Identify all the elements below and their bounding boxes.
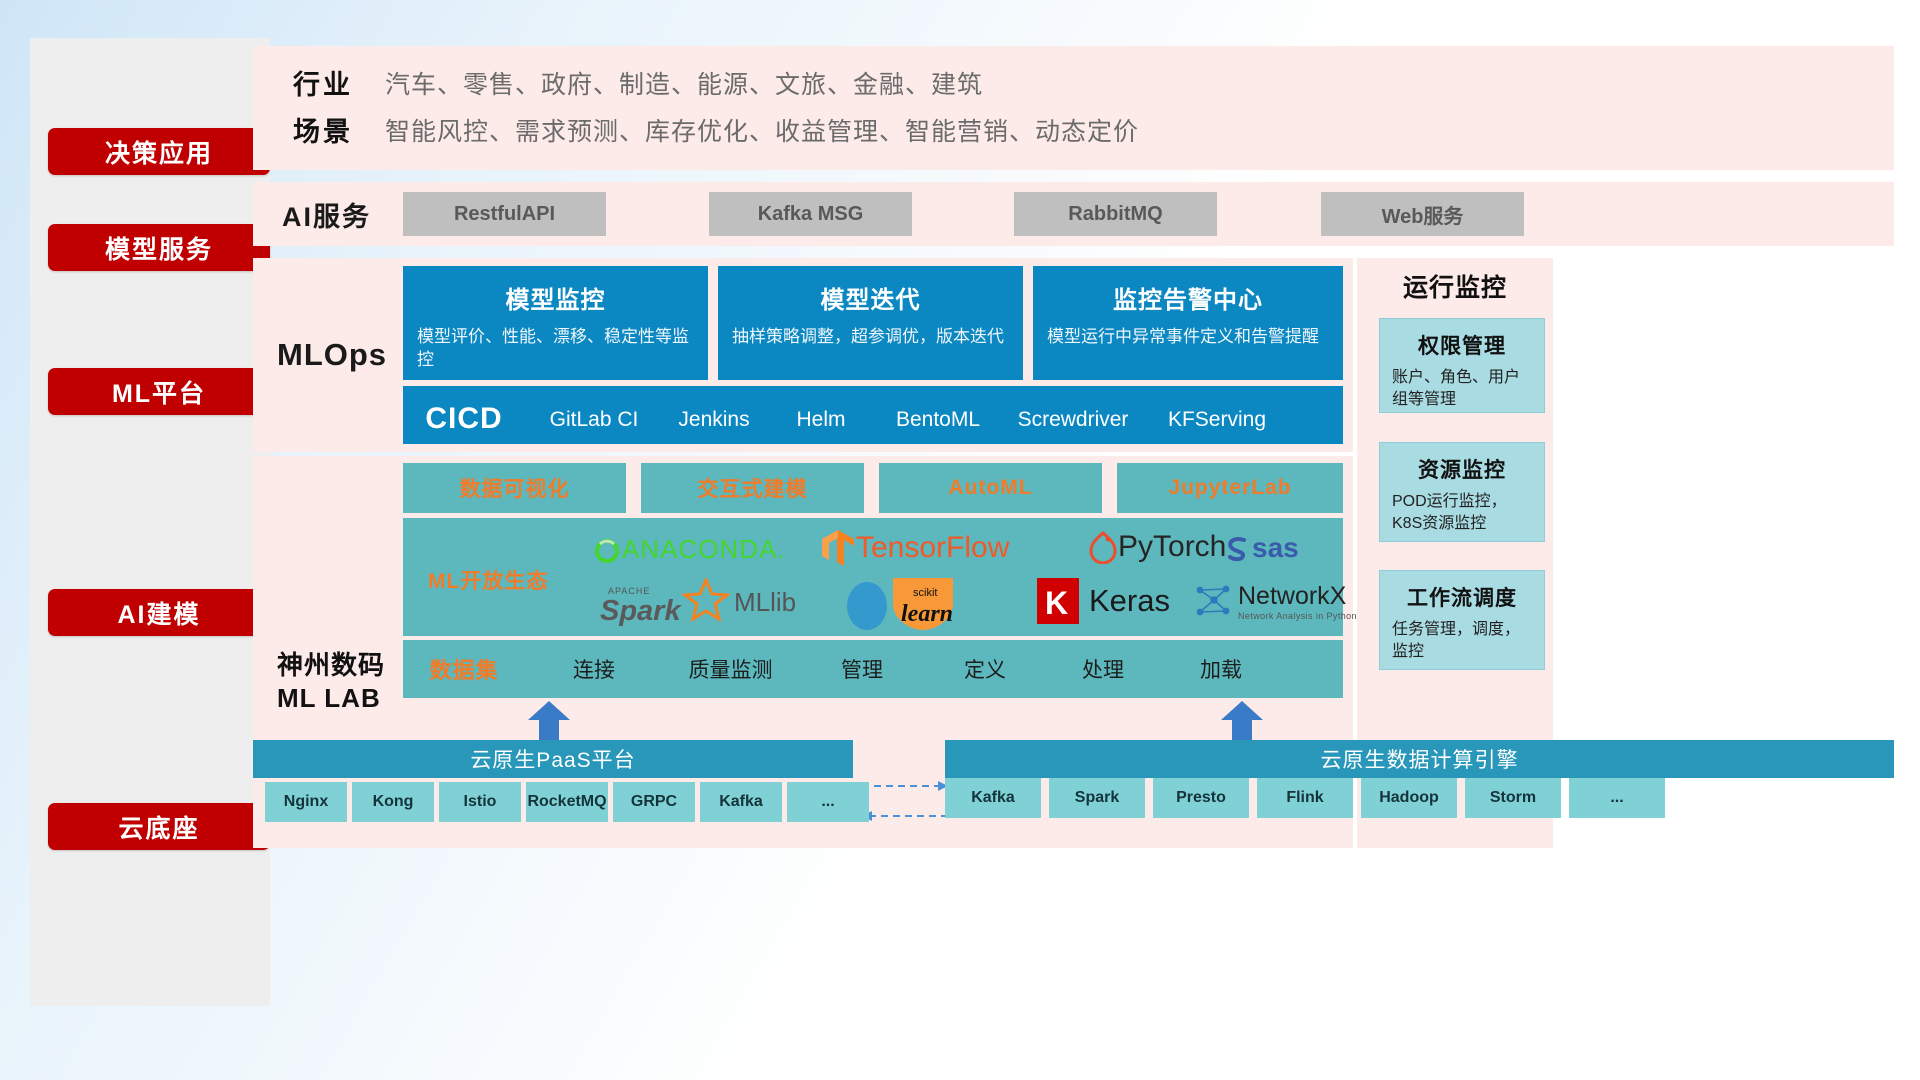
pytorch-icon [1088,530,1118,564]
lab-tab-automl[interactable]: AutoML [879,463,1102,513]
arrow-up-engine-icon [1218,700,1266,740]
service-chip-restfulapi[interactable]: RestfulAPI [403,192,606,236]
lab-tab-label: JupyterLab [1168,476,1291,500]
cloud-chip-rocketmq[interactable]: RocketMQ [526,782,608,822]
cloud-engine-title: 云原生数据计算引擎 [1321,744,1519,774]
mlops-card-alert-center[interactable]: 监控告警中心 模型运行中异常事件定义和告警提醒 [1033,266,1343,380]
cloud-chip-grpc[interactable]: GRPC [613,782,695,822]
scikit-learn-icon: scikit learn [845,576,970,632]
cloud-chip-storm[interactable]: Storm [1465,778,1561,818]
cloud-chip-label: Kafka [971,789,1015,807]
cloud-engine-bar[interactable]: 云原生数据计算引擎 [945,740,1894,778]
spark-mllib-logo: APACHE Spark MLlib [600,578,796,626]
rail-item-ai-modeling[interactable]: AI建模 [48,589,270,636]
cloud-chip-istio[interactable]: Istio [439,782,521,822]
anaconda-logo: ANACONDA . [592,534,785,565]
cloud-chip-label: Kong [373,793,414,811]
rail-item-model-service[interactable]: 模型服务 [48,224,270,271]
svg-text:scikit: scikit [913,587,937,599]
cloud-chip-label: Storm [1490,789,1536,807]
right-card-desc: 账户、角色、用户组等管理 [1392,367,1532,411]
rail-item-label: 决策应用 [105,134,213,170]
cicd-item-helm[interactable]: Helm [765,386,877,432]
anaconda-label: ANACONDA [622,534,777,565]
cloud-chip-kong[interactable]: Kong [352,782,434,822]
mlops-card-title: 监控告警中心 [1047,280,1329,315]
keras-icon: K [1035,576,1081,626]
cloud-paas-title: 云原生PaaS平台 [470,744,635,774]
keras-label: Keras [1089,583,1170,619]
cloud-chip-label: Istio [464,793,497,811]
service-chip-label: Kafka MSG [758,203,864,226]
tensorflow-icon [820,528,856,568]
cloud-chip-label: Hadoop [1379,789,1439,807]
scenario-value: 智能风控、需求预测、库存优化、收益管理、智能营销、动态定价 [385,112,1139,148]
scenario-row: 场景 智能风控、需求预测、库存优化、收益管理、智能营销、动态定价 [293,110,1139,149]
industry-value: 汽车、零售、政府、制造、能源、文旅、金融、建筑 [385,65,983,101]
ml-lab-name: 神州数码 ML LAB [277,649,385,716]
service-chip-label: RabbitMQ [1068,203,1162,226]
lab-tab-interactive-modeling[interactable]: 交互式建模 [641,463,864,513]
cloud-chip-label: Presto [1176,789,1226,807]
cloud-chip-label: Kafka [719,793,763,811]
right-card-desc: POD运行监控，K8S资源监控 [1392,491,1532,535]
dataset-lead-label: 数据集 [403,653,525,685]
cicd-item-jenkins[interactable]: Jenkins [663,386,765,432]
right-card-title: 资源监控 [1392,454,1532,484]
sas-icon [1222,533,1252,563]
mlops-card-desc: 模型评价、性能、漂移、稳定性等监控 [417,325,694,372]
networkx-logo: NetworkX Network Analysis in Python [1192,580,1357,622]
sas-label: sas [1252,532,1299,564]
spark-icon: APACHE Spark [600,578,730,626]
industry-row: 行业 汽车、零售、政府、制造、能源、文旅、金融、建筑 [293,63,983,102]
svg-text:learn: learn [901,601,953,627]
cloud-chip-more-left[interactable]: ... [787,782,869,822]
rail-item-label: ML平台 [112,374,206,410]
lab-tab-jupyterlab[interactable]: JupyterLab [1117,463,1343,513]
rail-item-ml-platform[interactable]: ML平台 [48,368,270,415]
service-chip-kafka-msg[interactable]: Kafka MSG [709,192,912,236]
rail-item-decision-app[interactable]: 决策应用 [48,128,270,175]
dataset-item-quality[interactable]: 质量监测 [663,654,798,684]
cicd-bar: CICD GitLab CI Jenkins Helm BentoML Scre… [403,386,1343,444]
cloud-chip-flink[interactable]: Flink [1257,778,1353,818]
anaconda-icon [592,535,622,565]
cloud-paas-bar[interactable]: 云原生PaaS平台 [253,740,853,778]
lab-tab-label: 交互式建模 [698,473,808,503]
lab-tab-data-visualization[interactable]: 数据可视化 [403,463,626,513]
cloud-chip-spark[interactable]: Spark [1049,778,1145,818]
sas-logo: sas [1222,532,1299,564]
industry-key: 行业 [293,63,385,102]
right-card-title: 权限管理 [1392,330,1532,360]
ml-lab-name-line1: 神州数码 [277,649,385,682]
dataset-item-load[interactable]: 加载 [1162,654,1280,684]
mlops-label: MLOps [277,258,387,452]
right-column-header: 运行监控 [1357,268,1553,304]
ml-lab-name-line2: ML LAB [277,682,385,715]
dataset-item-manage[interactable]: 管理 [798,654,926,684]
service-chip-web-service[interactable]: Web服务 [1321,192,1524,236]
cloud-chip-hadoop[interactable]: Hadoop [1361,778,1457,818]
tensorflow-logo: TensorFlow [820,528,1009,568]
cicd-item-screwdriver[interactable]: Screwdriver [999,386,1147,432]
arrow-up-paas-icon [525,700,573,740]
right-card-permission[interactable]: 权限管理 账户、角色、用户组等管理 [1379,318,1545,413]
cloud-chip-presto[interactable]: Presto [1153,778,1249,818]
bidirectional-dashed-connector-icon [860,778,950,824]
cloud-chip-label: ... [1610,789,1623,807]
dataset-bar: 数据集 连接 质量监测 管理 定义 处理 加载 [403,640,1343,698]
dataset-item-define[interactable]: 定义 [926,654,1044,684]
lab-tab-label: AutoML [948,476,1032,500]
cicd-item-gitlab-ci[interactable]: GitLab CI [525,386,663,432]
cicd-item-bentoml[interactable]: BentoML [877,386,999,432]
right-card-desc: 任务管理，调度，监控 [1392,619,1532,663]
mlops-card-title: 模型监控 [417,280,694,315]
cloud-chip-label: GRPC [631,793,677,811]
cicd-lead-label: CICD [403,386,525,436]
right-card-title: 工作流调度 [1392,582,1532,612]
mlops-card-desc: 模型运行中异常事件定义和告警提醒 [1047,325,1329,348]
mlops-card-model-iteration[interactable]: 模型迭代 抽样策略调整，超参调优，版本迭代 [718,266,1023,380]
cloud-chip-label: Spark [1075,789,1119,807]
cloud-chip-nginx[interactable]: Nginx [265,782,347,822]
rail-item-cloud-base[interactable]: 云底座 [48,803,270,850]
cloud-chip-label: Nginx [284,793,328,811]
tensorflow-label: TensorFlow [856,531,1009,565]
cloud-chip-label: ... [821,793,834,811]
mlops-card-model-monitor[interactable]: 模型监控 模型评价、性能、漂移、稳定性等监控 [403,266,708,380]
pytorch-logo: PyTorch [1088,530,1226,564]
mlops-card-title: 模型迭代 [732,280,1009,315]
mllib-label: MLlib [734,587,796,618]
networkx-label: NetworkX [1238,582,1357,611]
pytorch-label: PyTorch [1118,530,1226,564]
cloud-chip-kafka-left[interactable]: Kafka [700,782,782,822]
right-card-workflow[interactable]: 工作流调度 任务管理，调度，监控 [1379,570,1545,670]
cloud-chip-kafka-right[interactable]: Kafka [945,778,1041,818]
dataset-item-process[interactable]: 处理 [1044,654,1162,684]
service-chip-label: RestfulAPI [454,203,555,226]
cicd-item-kfserving[interactable]: KFServing [1147,386,1287,432]
service-chip-rabbitmq[interactable]: RabbitMQ [1014,192,1217,236]
cloud-chip-label: RocketMQ [527,793,606,811]
dataset-item-connect[interactable]: 连接 [525,654,663,684]
left-rail [30,38,270,1006]
scikit-learn-logo: scikit learn [845,576,970,632]
mlops-card-desc: 抽样策略调整，超参调优，版本迭代 [732,325,1009,348]
rail-item-label: 模型服务 [105,230,213,266]
networkx-tagline: Network Analysis in Python [1238,611,1357,621]
svg-text:Spark: Spark [600,595,682,626]
rail-item-label: AI建模 [117,595,200,631]
lab-tab-label: 数据可视化 [460,473,570,503]
cloud-chip-more-right[interactable]: ... [1569,778,1665,818]
ai-service-label: AI服务 [282,182,371,246]
scenario-key: 场景 [293,110,385,149]
service-chip-label: Web服务 [1382,200,1464,229]
architecture-diagram: 决策应用 模型服务 ML平台 AI建模 云底座 行业 汽车、零售、政府、制造、能… [0,0,1920,1080]
svg-text:K: K [1045,585,1068,621]
ml-ecosystem-label: ML开放生态 [428,565,548,595]
keras-logo: K Keras [1035,576,1170,626]
right-card-resource[interactable]: 资源监控 POD运行监控，K8S资源监控 [1379,442,1545,542]
rail-item-label: 云底座 [118,809,199,845]
networkx-icon [1192,580,1234,622]
cloud-chip-label: Flink [1286,789,1323,807]
